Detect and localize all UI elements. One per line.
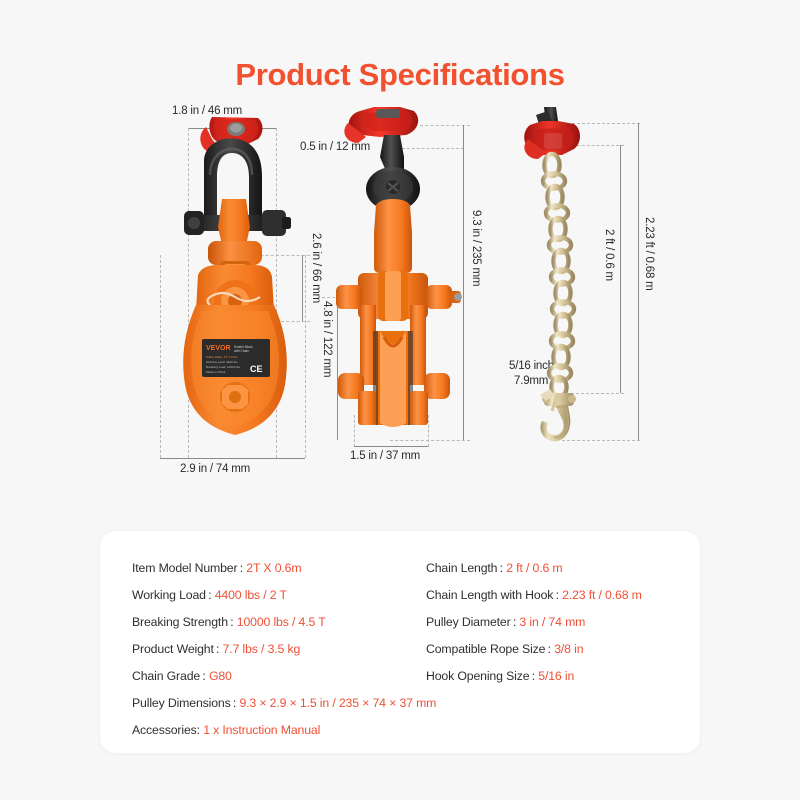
spec-value: 10000 lbs / 4.5 T: [237, 615, 326, 629]
svg-text:Made in China: Made in China: [206, 370, 226, 374]
spec-label: Accessories:: [132, 723, 200, 737]
spec-row: Accessories: 1 x Instruction Manual: [132, 717, 418, 744]
svg-text:with Chain: with Chain: [234, 349, 249, 353]
spec-value: G80: [209, 669, 232, 683]
spec-row: Hook Opening Size : 5/16 in: [426, 663, 700, 690]
spec-row: Item Model Number : 2T X 0.6m: [132, 555, 418, 582]
spec-row: Compatible Rope Size : 3/8 in: [426, 636, 700, 663]
spec-value: 2.23 ft / 0.68 m: [562, 588, 642, 602]
svg-text:VEVOR: VEVOR: [206, 345, 231, 352]
spec-value: 3 in / 74 mm: [519, 615, 585, 629]
spec-row: Pulley Dimensions : 9.3 × 2.9 × 1.5 in /…: [132, 690, 418, 717]
spec-value: 9.3 × 2.9 × 1.5 in / 235 × 74 × 37 mm: [239, 696, 436, 710]
spec-row: Chain Grade : G80: [132, 663, 418, 690]
spec-value: 2T X 0.6m: [246, 561, 301, 575]
spec-label: Product Weight :: [132, 642, 219, 656]
spec-label: Compatible Rope Size :: [426, 642, 551, 656]
spec-row: Chain Length : 2 ft / 0.6 m: [426, 555, 700, 582]
spec-label: Chain Length with Hook :: [426, 588, 559, 602]
chain-with-hook-art: [500, 105, 680, 445]
spec-value: 4400 lbs / 2 T: [215, 588, 287, 602]
spec-label: Chain Length :: [426, 561, 503, 575]
diagram-area: 1.8 in / 46 mm 2.9 in / 74 mm 2.6 in / 6…: [0, 105, 800, 505]
page-title: Product Specifications: [0, 0, 800, 93]
specifications-left-column: Item Model Number : 2T X 0.6m Working Lo…: [132, 555, 418, 744]
specifications-card: Item Model Number : 2T X 0.6m Working Lo…: [100, 531, 700, 753]
pulley-side-view-art: [300, 105, 510, 450]
spec-label: Item Model Number :: [132, 561, 243, 575]
spec-row: Chain Length with Hook : 2.23 ft / 0.68 …: [426, 582, 700, 609]
svg-text:CE: CE: [250, 364, 263, 374]
spec-label: Chain Grade :: [132, 669, 206, 683]
spec-row: Breaking Strength : 10000 lbs / 4.5 T: [132, 609, 418, 636]
spec-value: 5/16 in: [538, 669, 574, 683]
spec-value: 1 x Instruction Manual: [203, 723, 320, 737]
svg-text:Pulley Ratio: 2T X 0.6m: Pulley Ratio: 2T X 0.6m: [206, 355, 238, 359]
spec-value: 7.7 lbs / 3.5 kg: [223, 642, 301, 656]
spec-label: Working Load :: [132, 588, 211, 602]
svg-text:Breaking Load: 10000 lbs: Breaking Load: 10000 lbs: [206, 365, 241, 369]
spec-row: Working Load : 4400 lbs / 2 T: [132, 582, 418, 609]
spec-label: Pulley Dimensions :: [132, 696, 236, 710]
spec-row: Pulley Diameter : 3 in / 74 mm: [426, 609, 700, 636]
chain-with-hook-diagram: 2 ft / 0.6 m 2.23 ft / 0.68 m 5/16 inch …: [500, 105, 680, 505]
specifications-columns: Item Model Number : 2T X 0.6m Working Lo…: [100, 531, 700, 744]
spec-label: Pulley Diameter :: [426, 615, 516, 629]
spec-label: Breaking Strength :: [132, 615, 233, 629]
spec-value: 3/8 in: [554, 642, 583, 656]
svg-text:Working Load: 4400 lbs: Working Load: 4400 lbs: [206, 360, 238, 364]
pulley-side-view-diagram: 0.5 in / 12 mm 9.3 in / 235 mm 4.8 in / …: [300, 105, 510, 505]
specifications-right-column: Chain Length : 2 ft / 0.6 m Chain Length…: [418, 555, 700, 744]
spec-row: Product Weight : 7.7 lbs / 3.5 kg: [132, 636, 418, 663]
dim-label-width-bottom-side: 1.5 in / 37 mm: [350, 450, 420, 462]
spec-value: 2 ft / 0.6 m: [506, 561, 562, 575]
spec-label: Hook Opening Size :: [426, 669, 535, 683]
